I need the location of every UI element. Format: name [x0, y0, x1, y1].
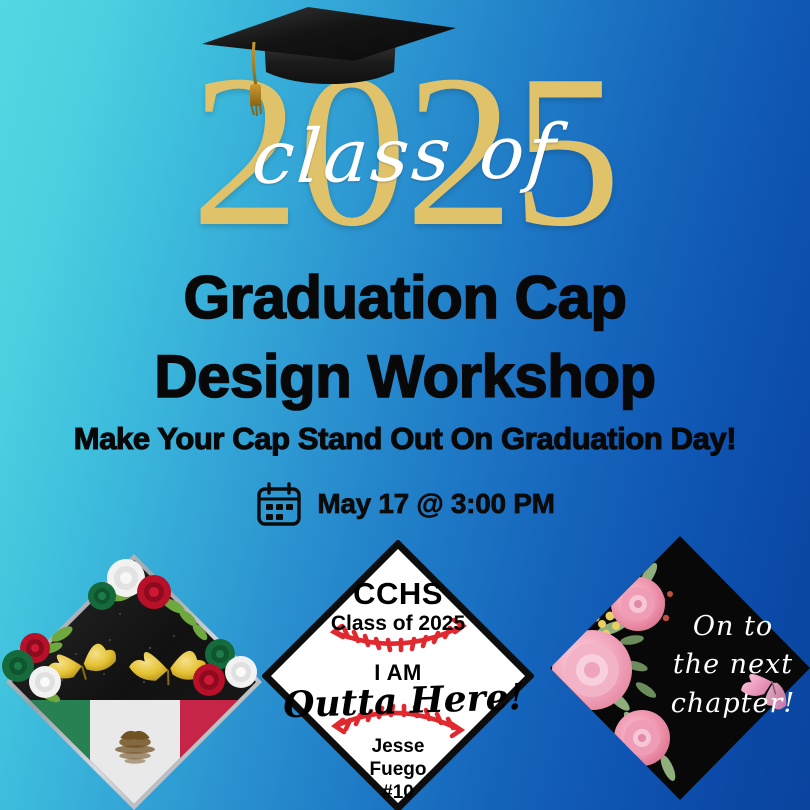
right-cap-script: On to the next chapter!: [666, 608, 800, 723]
headline-line-1: Graduation Cap: [0, 258, 810, 337]
center-cap-name-2: Fuego: [370, 759, 427, 780]
poster-canvas: 2025 class of Graduation Cap Design Work…: [0, 0, 810, 810]
cap-floral-next-chapter: On to the next chapter!: [540, 528, 810, 810]
center-cap-number: #10: [382, 782, 414, 803]
page-title: Graduation Cap Design Workshop: [0, 258, 810, 416]
center-cap-name-1: Jesse: [372, 736, 425, 757]
year-heading: 2025: [0, 58, 810, 245]
event-date-text: May 17 @ 3:00 PM: [317, 488, 554, 520]
year-text: 2025: [191, 58, 619, 245]
center-cap-script: Outta Here!: [282, 676, 525, 726]
headline-line-2: Design Workshop: [0, 337, 810, 416]
cap-mexican-flag-butterflies: [0, 548, 270, 810]
event-date-row: May 17 @ 3:00 PM: [0, 480, 810, 528]
calendar-icon: [255, 480, 303, 528]
center-cap-classof: Class of 2025: [331, 612, 466, 635]
subtitle-text: Make Your Cap Stand Out On Graduation Da…: [0, 420, 810, 457]
right-cap-line-1: On to: [666, 608, 800, 646]
cap-baseball-outta-here: CCHS Class of 2025 I AM Outta Here! Jess…: [262, 540, 534, 810]
right-cap-line-3: chapter!: [666, 685, 800, 723]
center-cap-school: CCHS: [353, 576, 443, 611]
right-cap-line-2: the next: [666, 646, 800, 684]
